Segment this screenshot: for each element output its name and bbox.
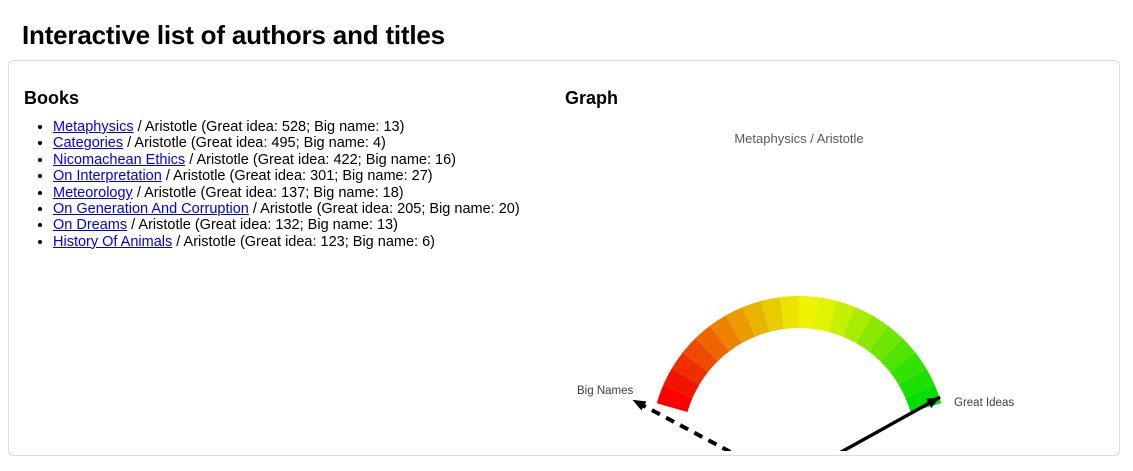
gauge-chart: Metaphysics / Aristotle Big Names Great …: [549, 111, 1109, 451]
book-title-link[interactable]: Categories: [53, 135, 123, 151]
books-section-heading: Books: [24, 88, 79, 109]
book-title-link[interactable]: On Dreams: [53, 217, 127, 233]
book-list-item: Categories / Aristotle (Great idea: 495;…: [53, 135, 520, 151]
big-names-needle[interactable]: [632, 400, 787, 451]
book-list-item: Meteorology / Aristotle (Great idea: 137…: [53, 185, 520, 201]
book-title-link[interactable]: On Interpretation: [53, 168, 162, 184]
book-title-link[interactable]: Nicomachean Ethics: [53, 152, 185, 168]
book-list-item: Nicomachean Ethics / Aristotle (Great id…: [53, 152, 520, 168]
book-meta-text: / Aristotle (Great idea: 301; Big name: …: [162, 168, 433, 184]
book-meta-text: / Aristotle (Great idea: 137; Big name: …: [133, 185, 404, 201]
book-meta-text: / Aristotle (Great idea: 528; Big name: …: [134, 119, 405, 135]
gauge-left-axis-label: Big Names: [577, 385, 633, 397]
book-title-link[interactable]: Meteorology: [53, 185, 133, 201]
book-title-link[interactable]: History Of Animals: [53, 234, 172, 250]
book-list-item: On Dreams / Aristotle (Great idea: 132; …: [53, 217, 520, 233]
book-list-item: History Of Animals / Aristotle (Great id…: [53, 234, 520, 250]
book-title-link[interactable]: Metaphysics: [53, 119, 134, 135]
book-meta-text: / Aristotle (Great idea: 132; Big name: …: [127, 217, 398, 233]
big-names-needle-arrowhead: [632, 400, 646, 411]
graph-section-heading: Graph: [565, 88, 618, 109]
gauge-svg: Big Names Great Ideas: [549, 111, 1109, 451]
gauge-segment-group: [657, 296, 942, 412]
page-title: Interactive list of authors and titles: [22, 20, 445, 51]
content-panel: Books Metaphysics / Aristotle (Great ide…: [8, 60, 1120, 456]
book-list-item: On Interpretation / Aristotle (Great ide…: [53, 168, 520, 184]
book-list-item: Metaphysics / Aristotle (Great idea: 528…: [53, 119, 520, 135]
gauge-right-axis-label: Great Ideas: [954, 397, 1014, 409]
book-meta-text: / Aristotle (Great idea: 495; Big name: …: [123, 135, 386, 151]
book-title-link[interactable]: On Generation And Corruption: [53, 201, 249, 217]
book-meta-text: / Aristotle (Great idea: 422; Big name: …: [185, 152, 456, 168]
books-list: Metaphysics / Aristotle (Great idea: 528…: [23, 119, 520, 250]
book-list-item: On Generation And Corruption / Aristotle…: [53, 201, 520, 217]
book-meta-text: / Aristotle (Great idea: 205; Big name: …: [249, 201, 520, 217]
book-meta-text: / Aristotle (Great idea: 123; Big name: …: [172, 234, 435, 250]
